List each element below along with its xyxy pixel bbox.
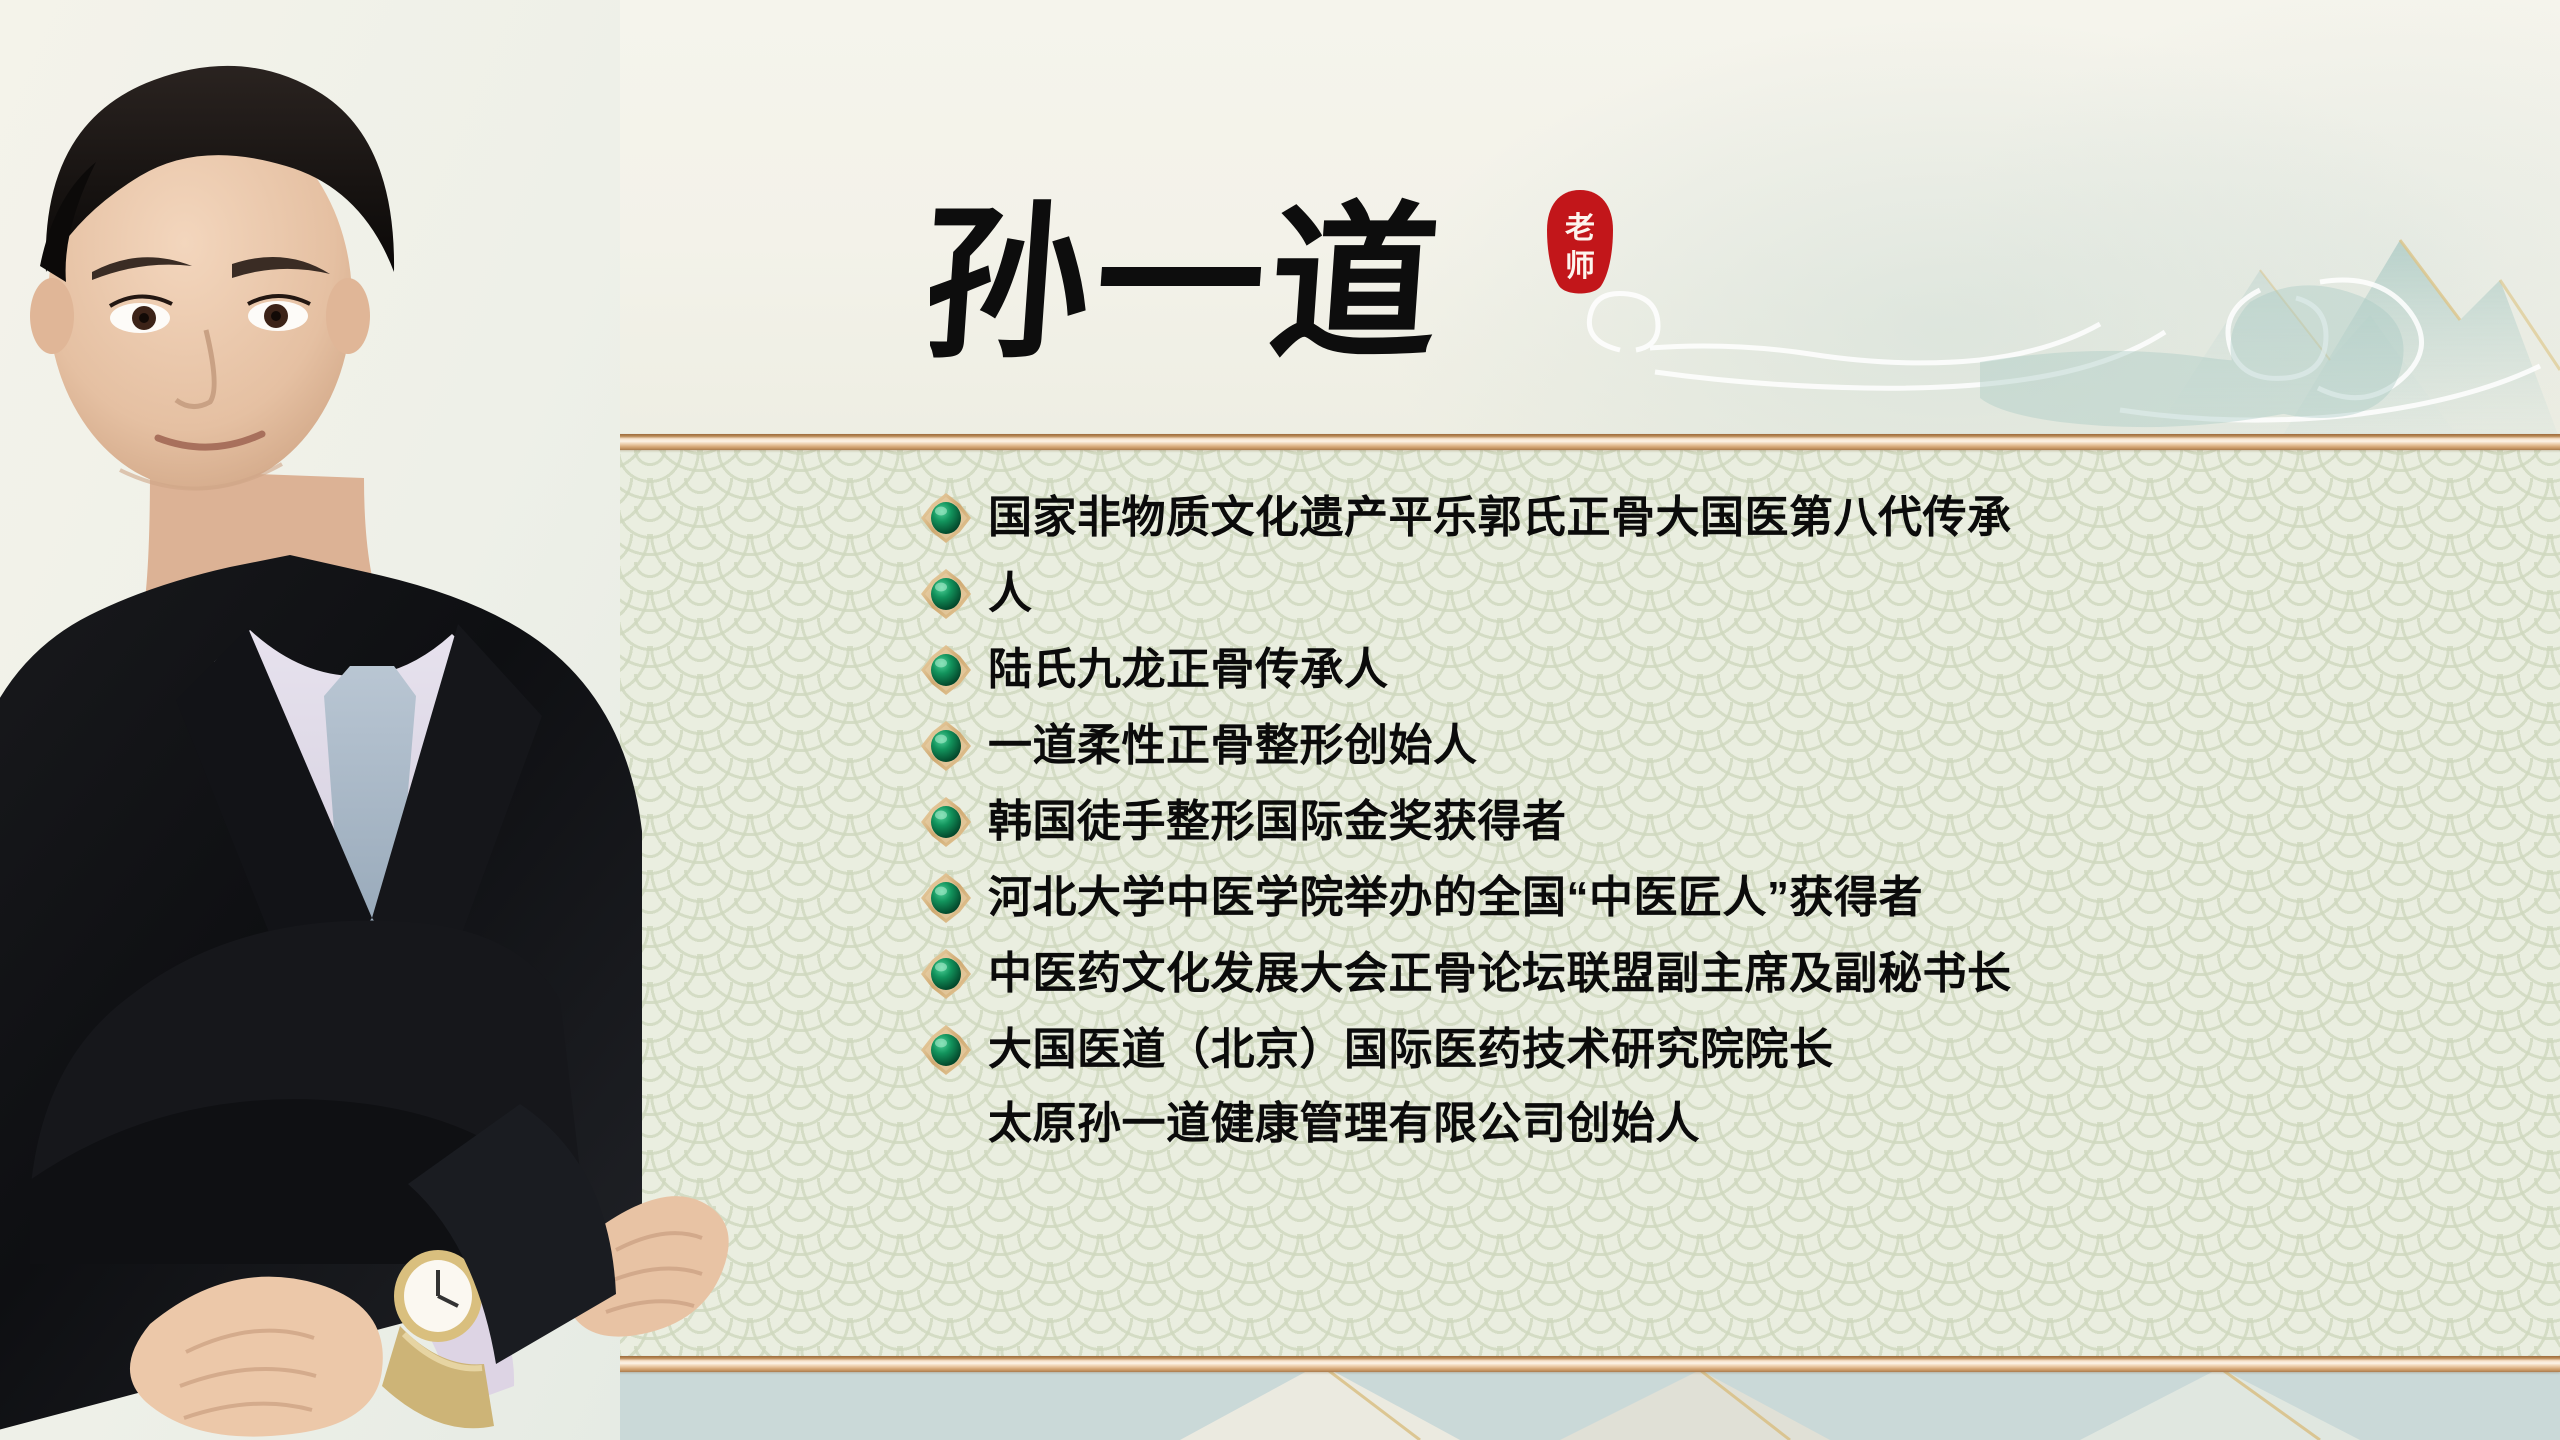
header-band: 孙一道 老 师 xyxy=(0,0,2560,440)
credential-text: 韩国徒手整形国际金奖获得者 xyxy=(988,795,1567,849)
jade-gem-bullet-icon xyxy=(920,644,972,696)
credential-row: 河北大学中医学院举办的全国“中医匠人”获得者 xyxy=(920,860,2520,936)
credential-row: 国家非物质文化遗产平乐郭氏正骨大国医第八代传承 xyxy=(920,480,2520,556)
jade-gem-bullet-icon xyxy=(920,796,972,848)
bottom-landscape-illustration xyxy=(0,1364,2560,1440)
credential-row: 一道柔性正骨整形创始人 xyxy=(920,708,2520,784)
gold-divider-bottom xyxy=(0,1356,2560,1372)
credential-row: 陆氏九龙正骨传承人 xyxy=(920,632,2520,708)
seal-char-lao: 老 xyxy=(1565,212,1595,245)
jade-gem-bullet-icon xyxy=(920,568,972,620)
poster-canvas: 孙一道 老 师 xyxy=(0,0,2560,1440)
bottom-landscape-strip xyxy=(0,1364,2560,1440)
credentials-list: 国家非物质文化遗产平乐郭氏正骨大国医第八代传承 人 xyxy=(920,480,2520,1160)
seal-char-shi: 师 xyxy=(1565,250,1595,283)
mountain-illustration xyxy=(1900,120,2560,440)
jade-gem-bullet-icon xyxy=(920,492,972,544)
calligraphy-glyphs: 孙一道 xyxy=(930,193,1450,379)
credential-text: 人 xyxy=(988,567,1033,621)
gold-divider-top xyxy=(0,434,2560,450)
credential-text: 中医药文化发展大会正骨论坛联盟副主席及副秘书长 xyxy=(988,947,2012,1001)
calligraphy-title-sun-yi-dao: 孙一道 xyxy=(930,170,1570,400)
jade-gem-bullet-icon xyxy=(920,1024,972,1076)
credential-text: 大国医道（北京）国际医药技术研究院院长 xyxy=(988,1023,1834,1077)
credential-text: 太原孙一道健康管理有限公司创始人 xyxy=(988,1097,1700,1151)
credential-text: 陆氏九龙正骨传承人 xyxy=(988,643,1389,697)
title-block: 孙一道 老 师 xyxy=(930,170,1630,410)
credential-text: 一道柔性正骨整形创始人 xyxy=(988,719,1478,773)
credential-row: 太原孙一道健康管理有限公司创始人 xyxy=(920,1088,2520,1160)
credential-text: 河北大学中医学院举办的全国“中医匠人”获得者 xyxy=(988,871,1923,925)
cloud-illustration xyxy=(1560,230,2560,440)
credential-row: 人 xyxy=(920,556,2520,632)
credential-row: 韩国徒手整形国际金奖获得者 xyxy=(920,784,2520,860)
credential-text: 国家非物质文化遗产平乐郭氏正骨大国医第八代传承 xyxy=(988,491,2012,545)
credential-row: 大国医道（北京）国际医药技术研究院院长 xyxy=(920,1012,2520,1088)
credential-row: 中医药文化发展大会正骨论坛联盟副主席及副秘书长 xyxy=(920,936,2520,1012)
jade-gem-bullet-icon xyxy=(920,872,972,924)
jade-gem-bullet-icon xyxy=(920,948,972,1000)
jade-gem-bullet-icon xyxy=(920,720,972,772)
red-seal-stamp: 老 师 xyxy=(1543,188,1617,298)
